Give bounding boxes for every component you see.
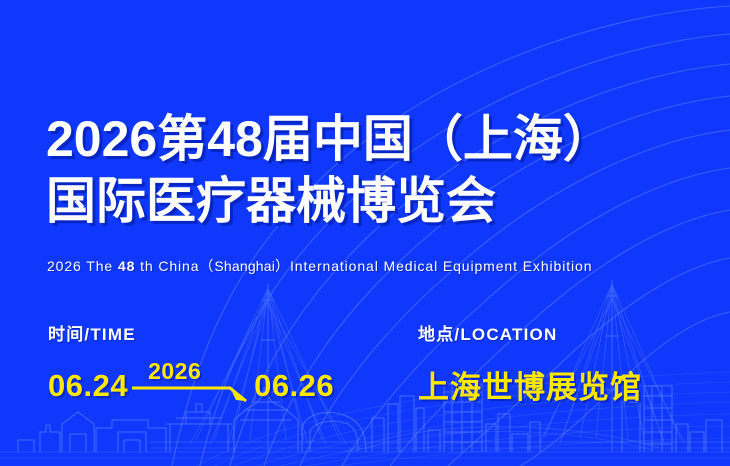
venue-name: 上海世博展览馆 [418, 362, 642, 407]
date-range-arrow: 2026 [132, 362, 250, 402]
event-poster: 2026第48届中国（上海） 国际医疗器械博览会 2026 The 48 th … [0, 0, 730, 466]
time-label: 时间/TIME [48, 320, 334, 345]
subtitle-ordinal-suffix: th China（ [135, 258, 214, 274]
location-label: 地点/LOCATION [418, 320, 642, 345]
title-block: 2026第48届中国（上海） 国际医疗器械博览会 [46, 108, 613, 232]
end-date: 06.26 [254, 368, 334, 404]
poster-content: 2026第48届中国（上海） 国际医疗器械博览会 2026 The 48 th … [0, 0, 730, 466]
location-info-column: 地点/LOCATION 上海世博展览馆 [418, 320, 642, 407]
subtitle-prefix: 2026 The [47, 258, 118, 274]
english-subtitle: 2026 The 48 th China（Shanghai）Internatio… [47, 256, 592, 276]
time-value: 06.24 2026 06.26 [48, 362, 334, 404]
subtitle-city: Shanghai [214, 258, 275, 274]
subtitle-ordinal-number: 48 [118, 258, 135, 274]
start-date: 06.24 [48, 368, 128, 404]
title-line-2: 国际医疗器械博览会 [46, 170, 613, 232]
arrow-icon [132, 380, 250, 402]
subtitle-suffix: ）International Medical Equipment Exhibit… [275, 258, 592, 274]
title-line-1: 2026第48届中国（上海） [46, 108, 613, 170]
time-info-column: 时间/TIME 06.24 2026 06.26 [48, 320, 334, 404]
